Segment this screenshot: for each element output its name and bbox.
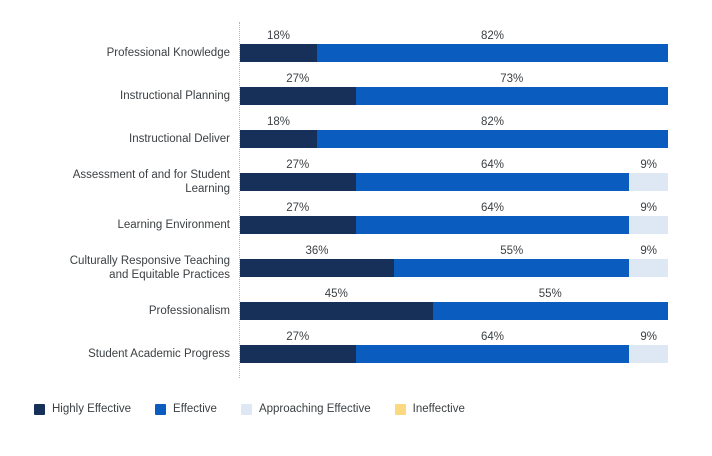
- bar-segment-approaching-effective[interactable]: 9%: [629, 345, 668, 363]
- segment-value-label: 55%: [539, 288, 562, 301]
- bar-segment-highly-effective[interactable]: 27%: [240, 87, 356, 105]
- bar-row: Professionalism45%55%: [0, 280, 712, 323]
- category-label: Professionalism: [8, 304, 230, 318]
- legend-swatch-icon: [241, 404, 252, 415]
- category-label: Instructional Planning: [8, 89, 230, 103]
- segment-value-label: 64%: [481, 331, 504, 344]
- legend-item[interactable]: Approaching Effective: [241, 403, 371, 416]
- category-label: Professional Knowledge: [8, 46, 230, 60]
- legend-item[interactable]: Ineffective: [395, 403, 465, 416]
- bar-segment-highly-effective[interactable]: 27%: [240, 216, 356, 234]
- stacked-bar[interactable]: 27%73%: [240, 87, 668, 105]
- legend-swatch-icon: [395, 404, 406, 415]
- segment-value-label: 9%: [640, 245, 657, 258]
- bar-segment-highly-effective[interactable]: 27%: [240, 173, 356, 191]
- segment-value-label: 82%: [481, 116, 504, 129]
- bar-row: Student Academic Progress27%64%9%: [0, 323, 712, 366]
- stacked-bar[interactable]: 45%55%: [240, 302, 668, 320]
- bar-segment-approaching-effective[interactable]: 9%: [629, 259, 668, 277]
- bar-row: Instructional Deliver18%82%: [0, 108, 712, 151]
- bar-segment-highly-effective[interactable]: 36%: [240, 259, 394, 277]
- segment-value-label: 9%: [640, 202, 657, 215]
- category-label: Learning Environment: [8, 218, 230, 232]
- chart-legend: Highly EffectiveEffectiveApproaching Eff…: [34, 403, 489, 416]
- bar-segment-highly-effective[interactable]: 45%: [240, 302, 433, 320]
- segment-value-label: 18%: [267, 30, 290, 43]
- category-label: Instructional Deliver: [8, 132, 230, 146]
- category-label: Culturally Responsive Teaching and Equit…: [8, 254, 230, 282]
- segment-value-label: 45%: [325, 288, 348, 301]
- segment-value-label: 82%: [481, 30, 504, 43]
- bar-segment-highly-effective[interactable]: 18%: [240, 44, 317, 62]
- stacked-bar[interactable]: 27%64%9%: [240, 345, 668, 363]
- bar-segment-effective[interactable]: 64%: [356, 216, 630, 234]
- legend-label: Highly Effective: [52, 403, 131, 416]
- stacked-bar[interactable]: 27%64%9%: [240, 216, 668, 234]
- bar-row: Learning Environment27%64%9%: [0, 194, 712, 237]
- segment-value-label: 55%: [500, 245, 523, 258]
- segment-value-label: 27%: [286, 159, 309, 172]
- bar-row: Culturally Responsive Teaching and Equit…: [0, 237, 712, 280]
- bar-row: Instructional Planning27%73%: [0, 65, 712, 108]
- bar-row: Professional Knowledge18%82%: [0, 22, 712, 65]
- segment-value-label: 27%: [286, 73, 309, 86]
- bar-segment-effective[interactable]: 55%: [394, 259, 629, 277]
- bar-segment-effective[interactable]: 82%: [317, 130, 668, 148]
- category-label: Student Academic Progress: [8, 347, 230, 361]
- plot-area: Professional Knowledge18%82%Instructiona…: [0, 0, 712, 390]
- segment-value-label: 64%: [481, 159, 504, 172]
- category-label: Assessment of and for Student Learning: [8, 168, 230, 196]
- bar-segment-effective[interactable]: 64%: [356, 345, 630, 363]
- segment-value-label: 73%: [500, 73, 523, 86]
- bar-segment-approaching-effective[interactable]: 9%: [629, 216, 668, 234]
- stacked-bar[interactable]: 36%55%9%: [240, 259, 668, 277]
- segment-value-label: 18%: [267, 116, 290, 129]
- legend-swatch-icon: [155, 404, 166, 415]
- legend-item[interactable]: Effective: [155, 403, 217, 416]
- bar-row: Assessment of and for Student Learning27…: [0, 151, 712, 194]
- stacked-bar[interactable]: 27%64%9%: [240, 173, 668, 191]
- segment-value-label: 36%: [306, 245, 329, 258]
- segment-value-label: 9%: [640, 331, 657, 344]
- legend-label: Effective: [173, 403, 217, 416]
- segment-value-label: 9%: [640, 159, 657, 172]
- stacked-bar[interactable]: 18%82%: [240, 44, 668, 62]
- segment-value-label: 27%: [286, 331, 309, 344]
- legend-item[interactable]: Highly Effective: [34, 403, 131, 416]
- segment-value-label: 27%: [286, 202, 309, 215]
- bar-segment-highly-effective[interactable]: 27%: [240, 345, 356, 363]
- stacked-bar-chart: Professional Knowledge18%82%Instructiona…: [0, 0, 712, 456]
- legend-label: Approaching Effective: [259, 403, 371, 416]
- legend-label: Ineffective: [413, 403, 465, 416]
- bar-segment-effective[interactable]: 73%: [356, 87, 668, 105]
- stacked-bar[interactable]: 18%82%: [240, 130, 668, 148]
- bar-segment-effective[interactable]: 82%: [317, 44, 668, 62]
- legend-swatch-icon: [34, 404, 45, 415]
- segment-value-label: 64%: [481, 202, 504, 215]
- bar-segment-effective[interactable]: 64%: [356, 173, 630, 191]
- bar-segment-effective[interactable]: 55%: [433, 302, 668, 320]
- bar-segment-highly-effective[interactable]: 18%: [240, 130, 317, 148]
- bar-segment-approaching-effective[interactable]: 9%: [629, 173, 668, 191]
